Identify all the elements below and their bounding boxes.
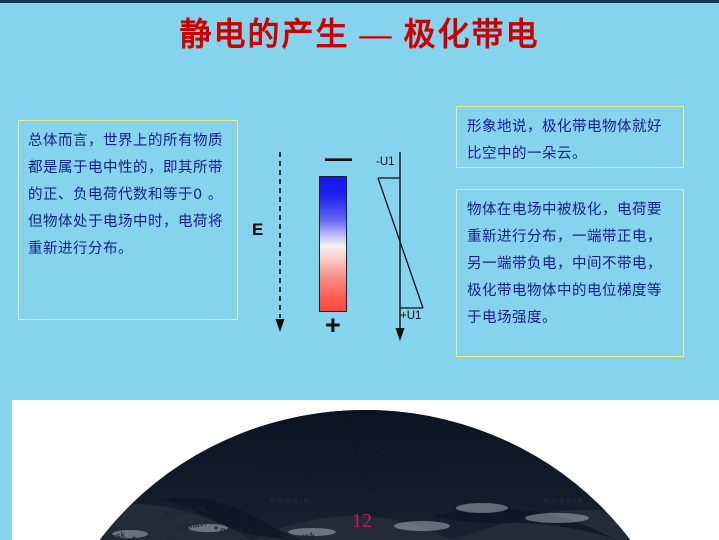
text-box-right-top: 形象地说，极化带电物体就好比空中的一朵云。: [456, 106, 684, 168]
text-box-right-top-content: 形象地说，极化带电物体就好比空中的一朵云。: [467, 119, 662, 162]
text-box-left-content: 总体而言，世界上的所有物质都是属于电中性的，即其所带的正、负电荷代数和等于0 。…: [28, 133, 223, 257]
negative-charge-sign: —: [325, 148, 352, 168]
potential-bottom-label: +U1: [400, 310, 421, 322]
top-edge-strip: [0, 0, 719, 3]
page-title: 静电的产生 — 极化带电: [0, 14, 719, 54]
positive-charge-sign: +: [325, 315, 341, 335]
text-box-right-bottom-content: 物体在电场中被极化，电荷要重新进行分布，一端带正电，另一端带负电，中间不带电，极…: [467, 202, 662, 326]
slide-canvas: 静电的产生 — 极化带电 总体而言，世界上的所有物质都是属于电中性的，即其所带的…: [0, 0, 719, 540]
svg-text:RUSSIA: RUSSIA: [270, 496, 311, 505]
potential-top-label: -U1: [376, 156, 395, 168]
potential-graph: [370, 140, 450, 360]
polarized-body-gradient-bar: [319, 176, 347, 312]
text-box-left: 总体而言，世界上的所有物质都是属于电中性的，即其所带的正、负电荷代数和等于0 。…: [18, 120, 238, 320]
polarization-diagram: E — + -U1 +U1: [240, 140, 440, 360]
field-arrow-icon: [252, 140, 312, 360]
svg-text:RUSSIA: RUSSIA: [544, 496, 585, 505]
text-box-right-bottom: 物体在电场中被极化，电荷要重新进行分布，一端带正电，另一端带负电，中间不带电，极…: [456, 189, 684, 357]
page-number: 12: [352, 510, 372, 533]
